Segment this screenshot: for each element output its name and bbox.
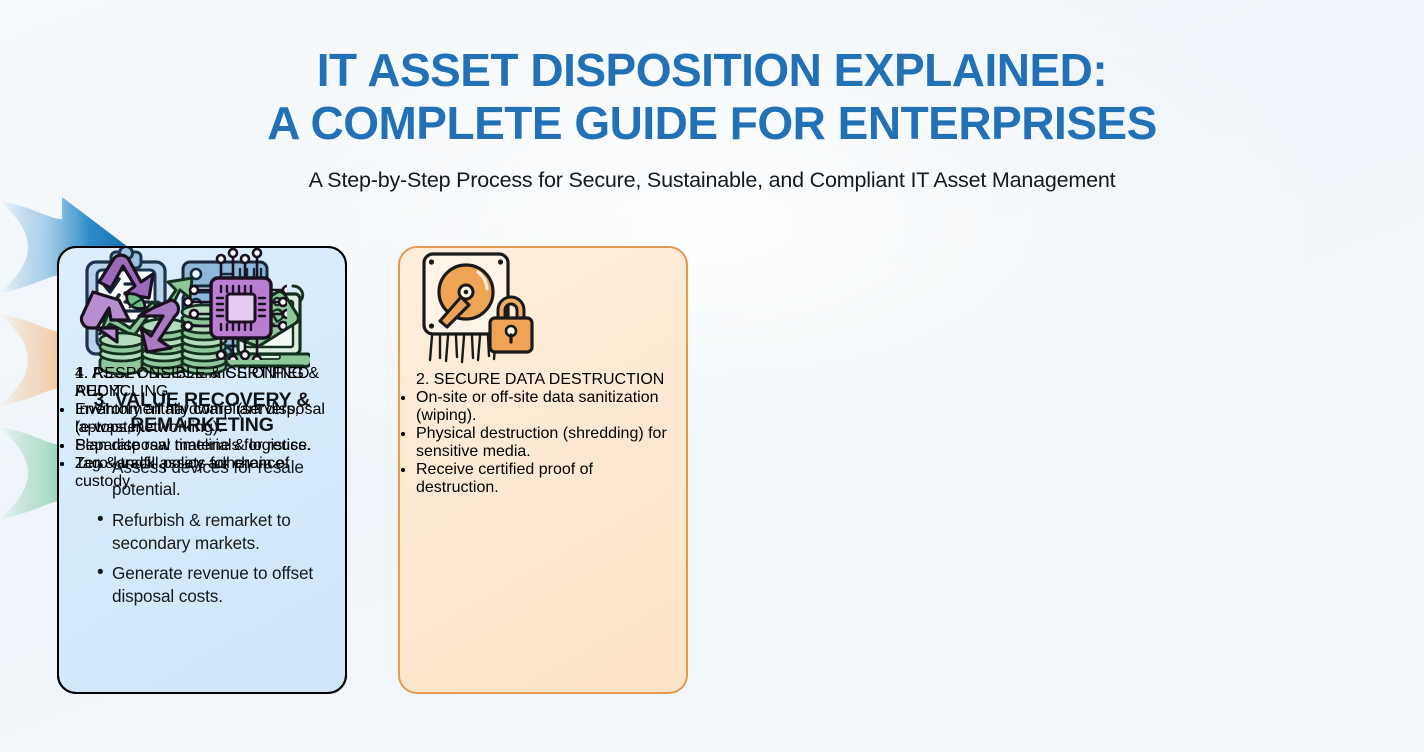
header: IT ASSET DISPOSITION EXPLAINED: A COMPLE…: [0, 0, 1424, 193]
page-title-line-2: A COMPLETE GUIDE FOR ENTERPRISES: [0, 97, 1424, 150]
list-item: Zero-landfill policy adherence.: [75, 455, 329, 473]
list-item: On-site or off-site data sanitization (w…: [416, 389, 670, 425]
page-title: IT ASSET DISPOSITION EXPLAINED: A COMPLE…: [0, 44, 1424, 151]
step-4-icon-group: [75, 248, 329, 365]
process-steps-row: 1. ASSET DECOMMISSIONING & AUDIT Invento…: [57, 246, 1369, 694]
step-4-bullet-list: Environmentally compliant disposal (e-wa…: [75, 401, 329, 473]
step-4-title: 4. RESPONSIBLE & CERTIFIED RECYCLING: [75, 365, 329, 401]
page-title-line-1: IT ASSET DISPOSITION EXPLAINED:: [0, 44, 1424, 97]
step-card-2[interactable]: 2. SECURE DATA DESTRUCTION On-site or of…: [398, 246, 688, 694]
list-item: Receive certified proof of destruction.: [416, 461, 670, 497]
recycle-leaf-icon: [81, 255, 178, 352]
list-item: Environmentally compliant disposal (e-wa…: [75, 401, 329, 437]
step-card-4[interactable]: 4. RESPONSIBLE & CERTIFIED RECYCLING Env…: [57, 246, 347, 694]
shredder-strips-icon: [430, 336, 496, 362]
list-item: Physical destruction (shredding) for sen…: [416, 425, 670, 461]
step-2-title: 2. SECURE DATA DESTRUCTION: [416, 371, 670, 389]
microchip-icon: [184, 249, 287, 360]
step-2-icon-group: [416, 248, 670, 371]
list-item: Separate raw materials for reuse.: [75, 437, 329, 455]
page-subtitle: A Step-by-Step Process for Secure, Susta…: [0, 168, 1424, 193]
step-2-bullet-list: On-site or off-site data sanitization (w…: [416, 389, 670, 497]
